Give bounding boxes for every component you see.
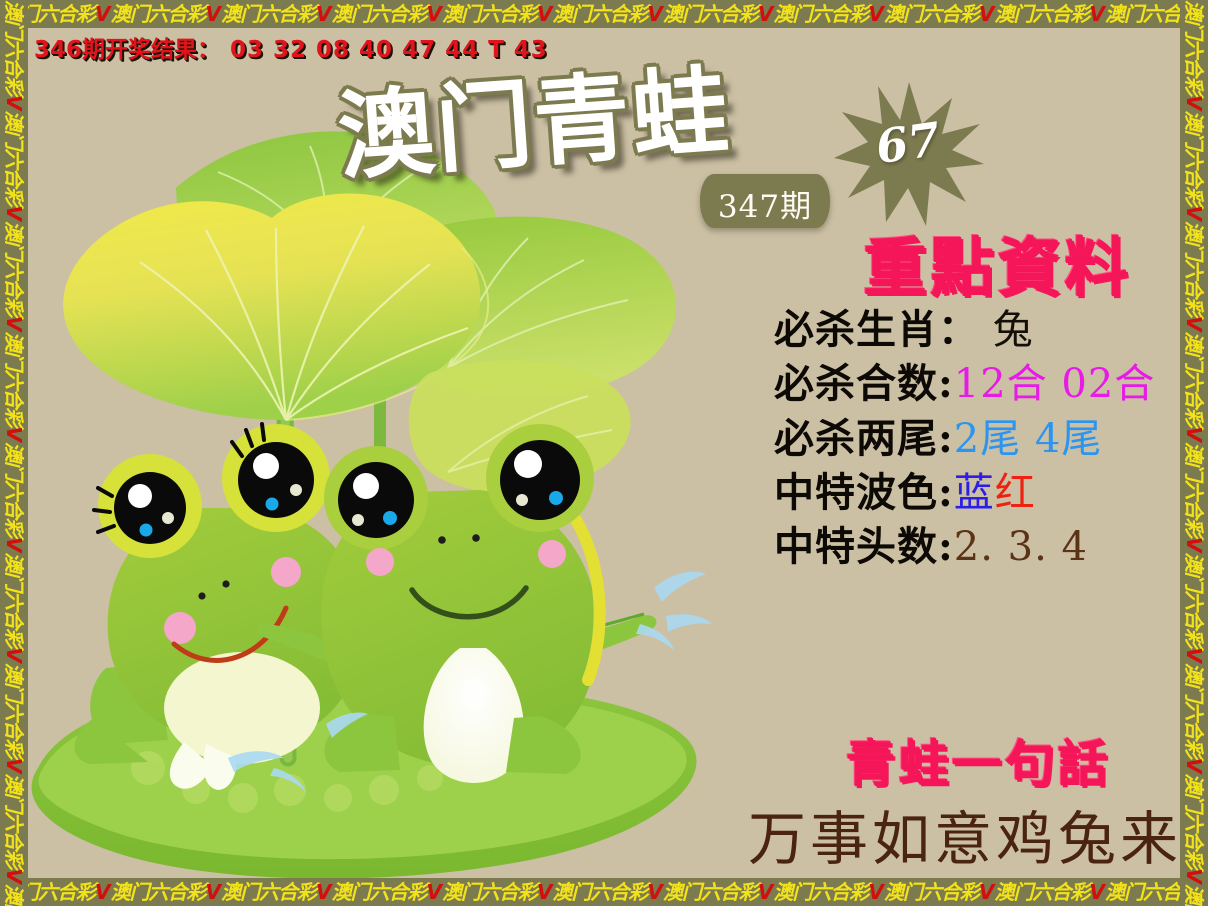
info-row-value: 2. 3. 4 xyxy=(954,524,1088,570)
border-top-text: 澳门六合彩V澳门六合彩V澳门六合彩V澳门六合彩V澳门六合彩V澳门六合彩V澳门六合… xyxy=(0,0,1208,28)
info-row-value: 兔 xyxy=(979,307,1034,353)
draw-result-numbers: 03 32 08 40 47 44 T 43 xyxy=(230,37,548,63)
issue-number: 347期 xyxy=(700,181,830,226)
border-bottom-text: 澳门六合彩V澳门六合彩V澳门六合彩V澳门六合彩V澳门六合彩V澳门六合彩V澳门六合… xyxy=(0,878,1208,906)
border-bottom: 澳门六合彩V澳门六合彩V澳门六合彩V澳门六合彩V澳门六合彩V澳门六合彩V澳门六合… xyxy=(0,878,1208,906)
border-right-text: 澳门六合彩V澳门六合彩V澳门六合彩V澳门六合彩V澳门六合彩V澳门六合彩V澳门六合… xyxy=(1180,0,1208,906)
info-row-zodiac: 必杀生肖： 兔 xyxy=(728,303,1180,357)
info-row-label: 必杀两尾: xyxy=(774,415,954,462)
poster-canvas: 346期开奖结果：03 32 08 40 47 44 T 43 67 347期 … xyxy=(28,28,1180,878)
phrase-body: 万事如意鸡兔来 xyxy=(700,792,1180,876)
draw-result-line: 346期开奖结果：03 32 08 40 47 44 T 43 xyxy=(34,30,548,64)
poster-root: 346期开奖结果：03 32 08 40 47 44 T 43 67 347期 … xyxy=(0,0,1208,906)
info-row-value: 2尾 4尾 xyxy=(954,416,1103,462)
info-heading: 重點資料 xyxy=(728,236,1180,303)
info-row-label: 中特波色: xyxy=(774,469,954,516)
draw-result-label: 346期开奖结果： xyxy=(34,37,220,63)
border-left: 澳门六合彩V澳门六合彩V澳门六合彩V澳门六合彩V澳门六合彩V澳门六合彩V澳门六合… xyxy=(0,0,28,906)
info-row-value-red: 红 xyxy=(995,470,1036,516)
info-row-label: 必杀生肖： xyxy=(774,306,979,353)
info-row-wave-color: 中特波色:蓝红 xyxy=(728,466,1180,520)
border-top: 澳门六合彩V澳门六合彩V澳门六合彩V澳门六合彩V澳门六合彩V澳门六合彩V澳门六合… xyxy=(0,0,1208,28)
info-row-label: 中特头数: xyxy=(774,523,954,570)
border-right: 澳门六合彩V澳门六合彩V澳门六合彩V澳门六合彩V澳门六合彩V澳门六合彩V澳门六合… xyxy=(1180,0,1208,906)
info-row-label: 必杀合数: xyxy=(774,360,954,407)
star-number: 67 xyxy=(865,111,952,176)
info-row-value-blue: 蓝 xyxy=(954,470,995,516)
info-row-tails: 必杀两尾:2尾 4尾 xyxy=(728,412,1180,466)
page-title: 澳门青蛙 xyxy=(335,62,733,185)
info-row-head-count: 中特头数:2. 3. 4 xyxy=(728,520,1180,574)
border-left-text: 澳门六合彩V澳门六合彩V澳门六合彩V澳门六合彩V澳门六合彩V澳门六合彩V澳门六合… xyxy=(0,0,28,906)
info-row-sum: 必杀合数:12合 02合 xyxy=(728,357,1180,411)
phrase-heading: 青蛙一句話 xyxy=(728,724,1180,796)
info-row-value: 12合 02合 xyxy=(954,361,1156,407)
info-panel: 重點資料 必杀生肖： 兔 必杀合数:12合 02合 必杀两尾:2尾 4尾 中特波… xyxy=(728,236,1180,574)
